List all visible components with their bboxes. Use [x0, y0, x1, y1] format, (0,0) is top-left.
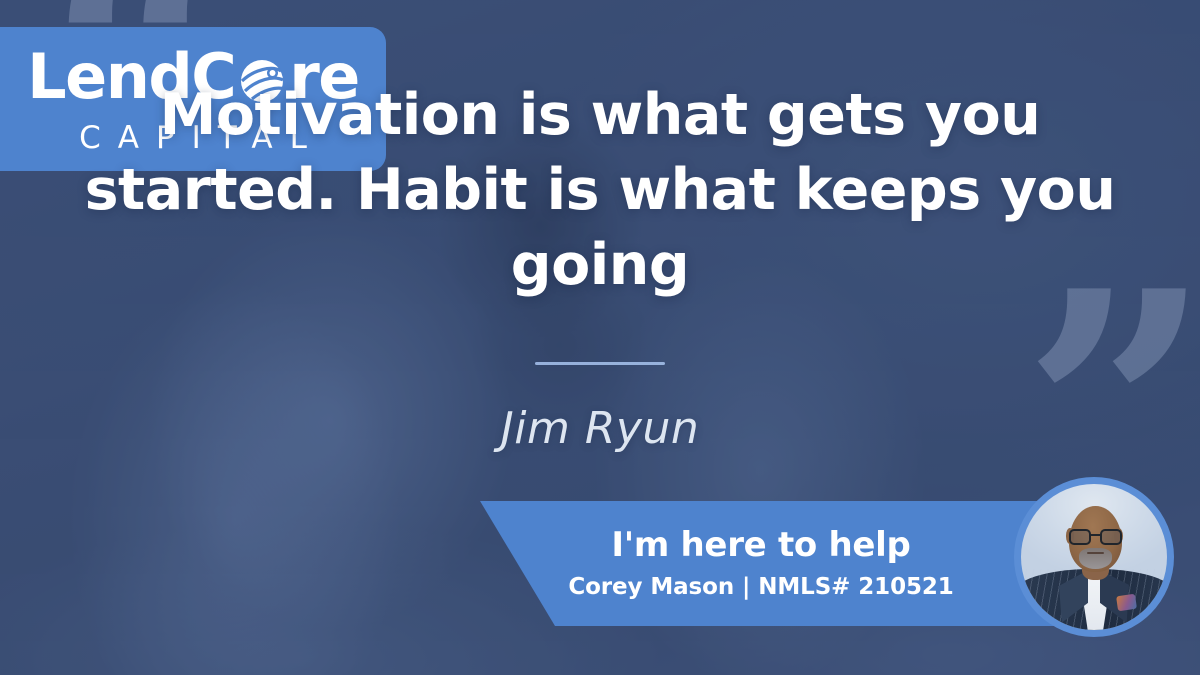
quote-author: Jim Ryun — [0, 403, 1200, 454]
avatar-mouth — [1087, 552, 1105, 555]
quote-text: Motivation is what gets you started. Hab… — [60, 78, 1140, 304]
cta-banner[interactable]: I'm here to help Corey Mason | NMLS# 210… — [480, 501, 1092, 626]
avatar-pocket-square — [1116, 594, 1137, 611]
avatar-ring — [1014, 477, 1174, 637]
avatar[interactable] — [1021, 484, 1167, 630]
cta-subline: Corey Mason | NMLS# 210521 — [568, 574, 953, 600]
cta-headline: I'm here to help — [611, 527, 910, 564]
social-quote-card: “ ” LendC re CAPITAL Motivation is what … — [0, 0, 1200, 675]
glasses-icon — [1069, 529, 1122, 545]
quote-divider — [535, 362, 665, 365]
